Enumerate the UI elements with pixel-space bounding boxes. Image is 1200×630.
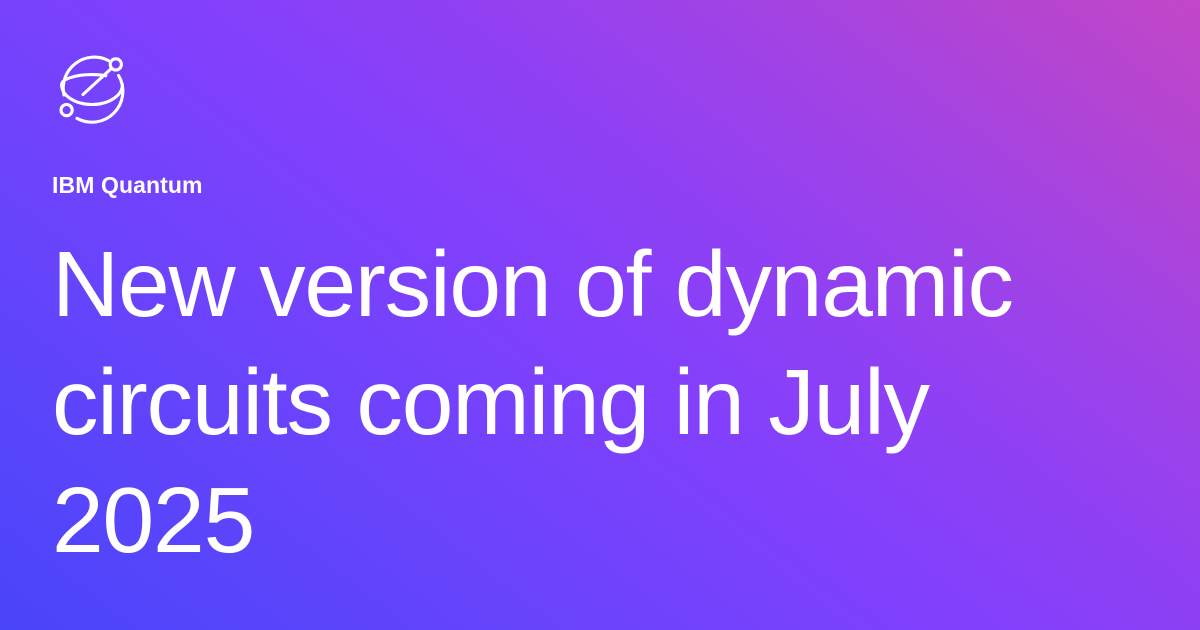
social-share-card: IBM Quantum New version of dynamic circu… bbox=[0, 0, 1200, 630]
page-title: New version of dynamic circuits coming i… bbox=[52, 225, 1112, 579]
headline-line-1: New version of dynamic bbox=[52, 225, 1112, 343]
card-content: IBM Quantum New version of dynamic circu… bbox=[52, 48, 1148, 630]
headline-line-2: circuits coming in July bbox=[52, 343, 1112, 461]
headline-line-3: 2025 bbox=[52, 461, 1112, 579]
ibm-quantum-sphere-icon bbox=[52, 48, 132, 128]
brand-name: IBM Quantum bbox=[52, 174, 1148, 197]
